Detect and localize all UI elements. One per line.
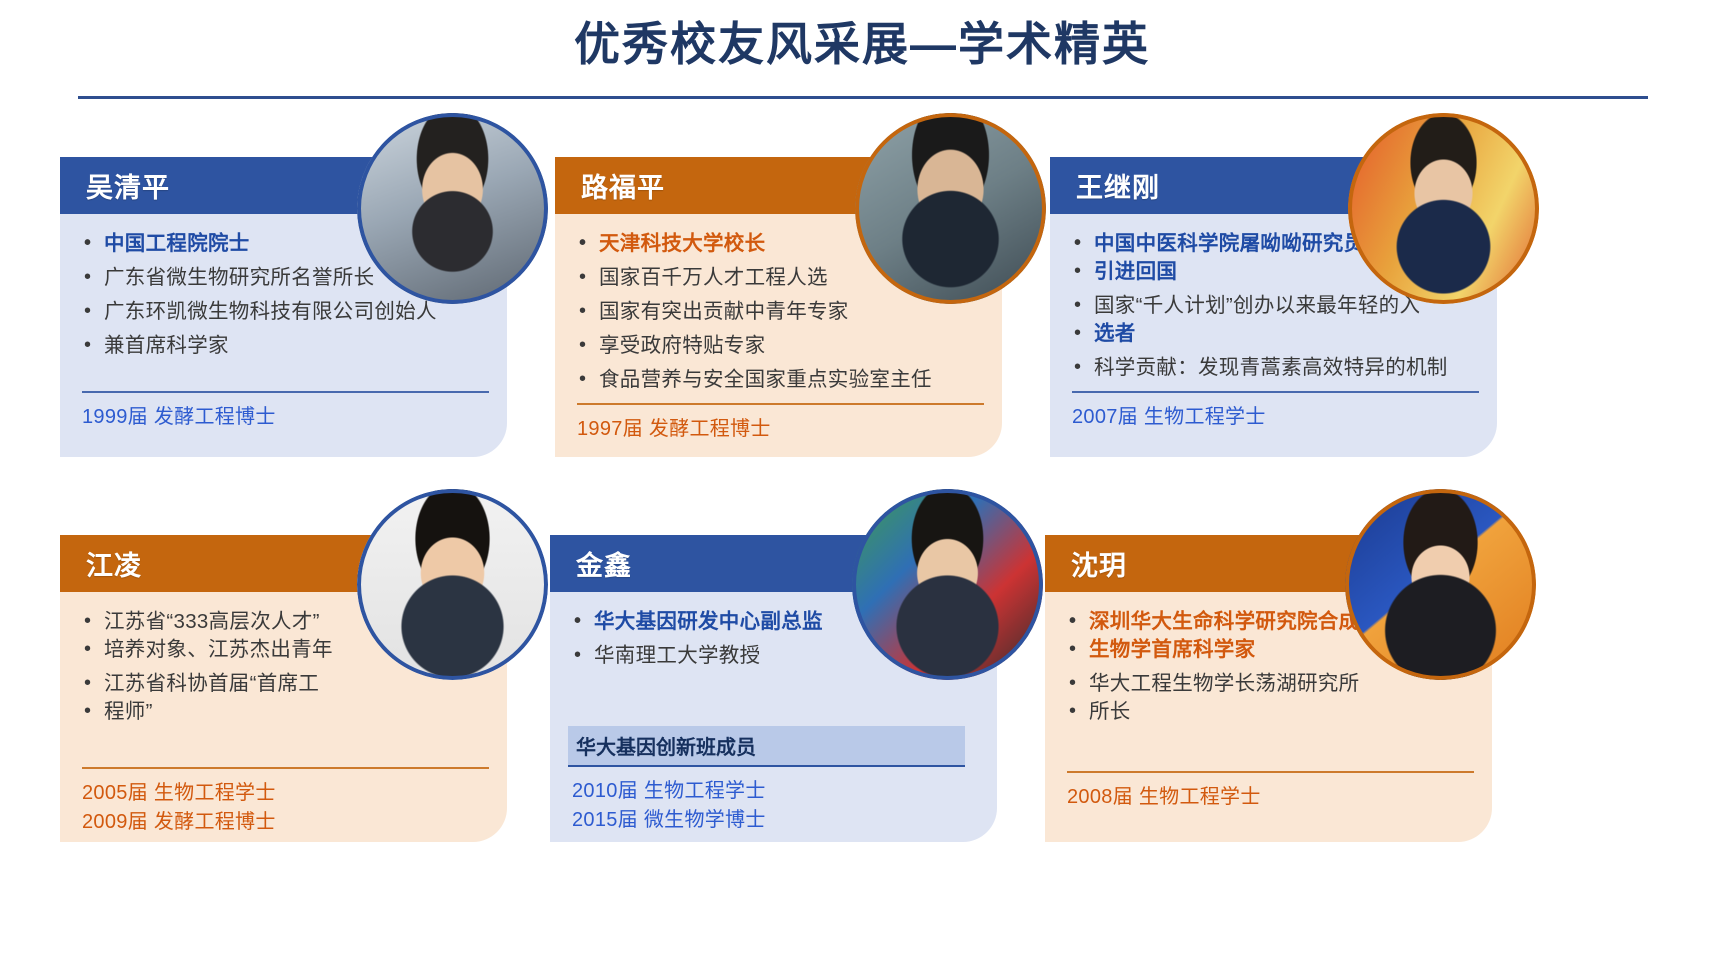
avatar-2 bbox=[855, 113, 1046, 304]
avatar-3 bbox=[1348, 113, 1539, 304]
degree-line: 2009届 发酵工程博士 bbox=[82, 808, 489, 837]
card-divider bbox=[82, 767, 489, 769]
card-divider bbox=[1067, 771, 1474, 773]
degree-line: 1997届 发酵工程博士 bbox=[577, 415, 984, 444]
degree-line: 2007届 生物工程学士 bbox=[1072, 403, 1479, 432]
card-divider bbox=[577, 403, 984, 405]
portrait-image bbox=[357, 489, 548, 680]
alumni-name: 王继刚 bbox=[1076, 166, 1160, 205]
page-title: 优秀校友风采展—学术精英 bbox=[0, 14, 1724, 74]
portrait-image bbox=[1345, 489, 1536, 680]
avatar-6 bbox=[1345, 489, 1536, 680]
portrait-image bbox=[1348, 113, 1539, 304]
list-item-continuation: 程师” bbox=[82, 696, 489, 727]
list-item-continuation: 兼首席科学家 bbox=[82, 330, 489, 361]
degree-line: 2008届 生物工程学士 bbox=[1067, 783, 1474, 812]
portrait-image bbox=[855, 113, 1046, 304]
alumni-name: 金鑫 bbox=[576, 544, 632, 583]
degree-line: 2010届 生物工程学士 bbox=[572, 777, 979, 806]
degree-line: 2005届 生物工程学士 bbox=[82, 779, 489, 808]
list-item: 科学贡献：发现青蒿素高效特异的机制 bbox=[1072, 352, 1479, 383]
alumni-name: 江凌 bbox=[86, 544, 142, 583]
degree-line: 1999届 发酵工程博士 bbox=[82, 403, 489, 432]
avatar-1 bbox=[357, 113, 548, 304]
alumni-name: 沈玥 bbox=[1071, 544, 1127, 583]
card-divider bbox=[1072, 391, 1479, 393]
alumni-name: 吴清平 bbox=[86, 166, 170, 205]
list-item: 享受政府特贴专家 bbox=[577, 330, 984, 361]
title-divider bbox=[78, 96, 1648, 99]
list-item-continuation: 所长 bbox=[1067, 696, 1474, 727]
avatar-4 bbox=[357, 489, 548, 680]
list-item: 食品营养与安全国家重点实验室主任 bbox=[577, 364, 984, 395]
card-divider bbox=[82, 391, 489, 393]
degree-line: 2015届 微生物学博士 bbox=[572, 806, 979, 835]
portrait-image bbox=[357, 113, 548, 304]
program-badge: 华大基因创新班成员 bbox=[568, 726, 965, 767]
avatar-5 bbox=[852, 489, 1043, 680]
list-item-continuation: 选者 bbox=[1072, 318, 1479, 349]
alumni-name: 路福平 bbox=[581, 166, 665, 205]
list-item: 国家有突出贡献中青年专家 bbox=[577, 296, 984, 327]
portrait-image bbox=[852, 489, 1043, 680]
page-header: 优秀校友风采展—学术精英 bbox=[0, 0, 1724, 108]
